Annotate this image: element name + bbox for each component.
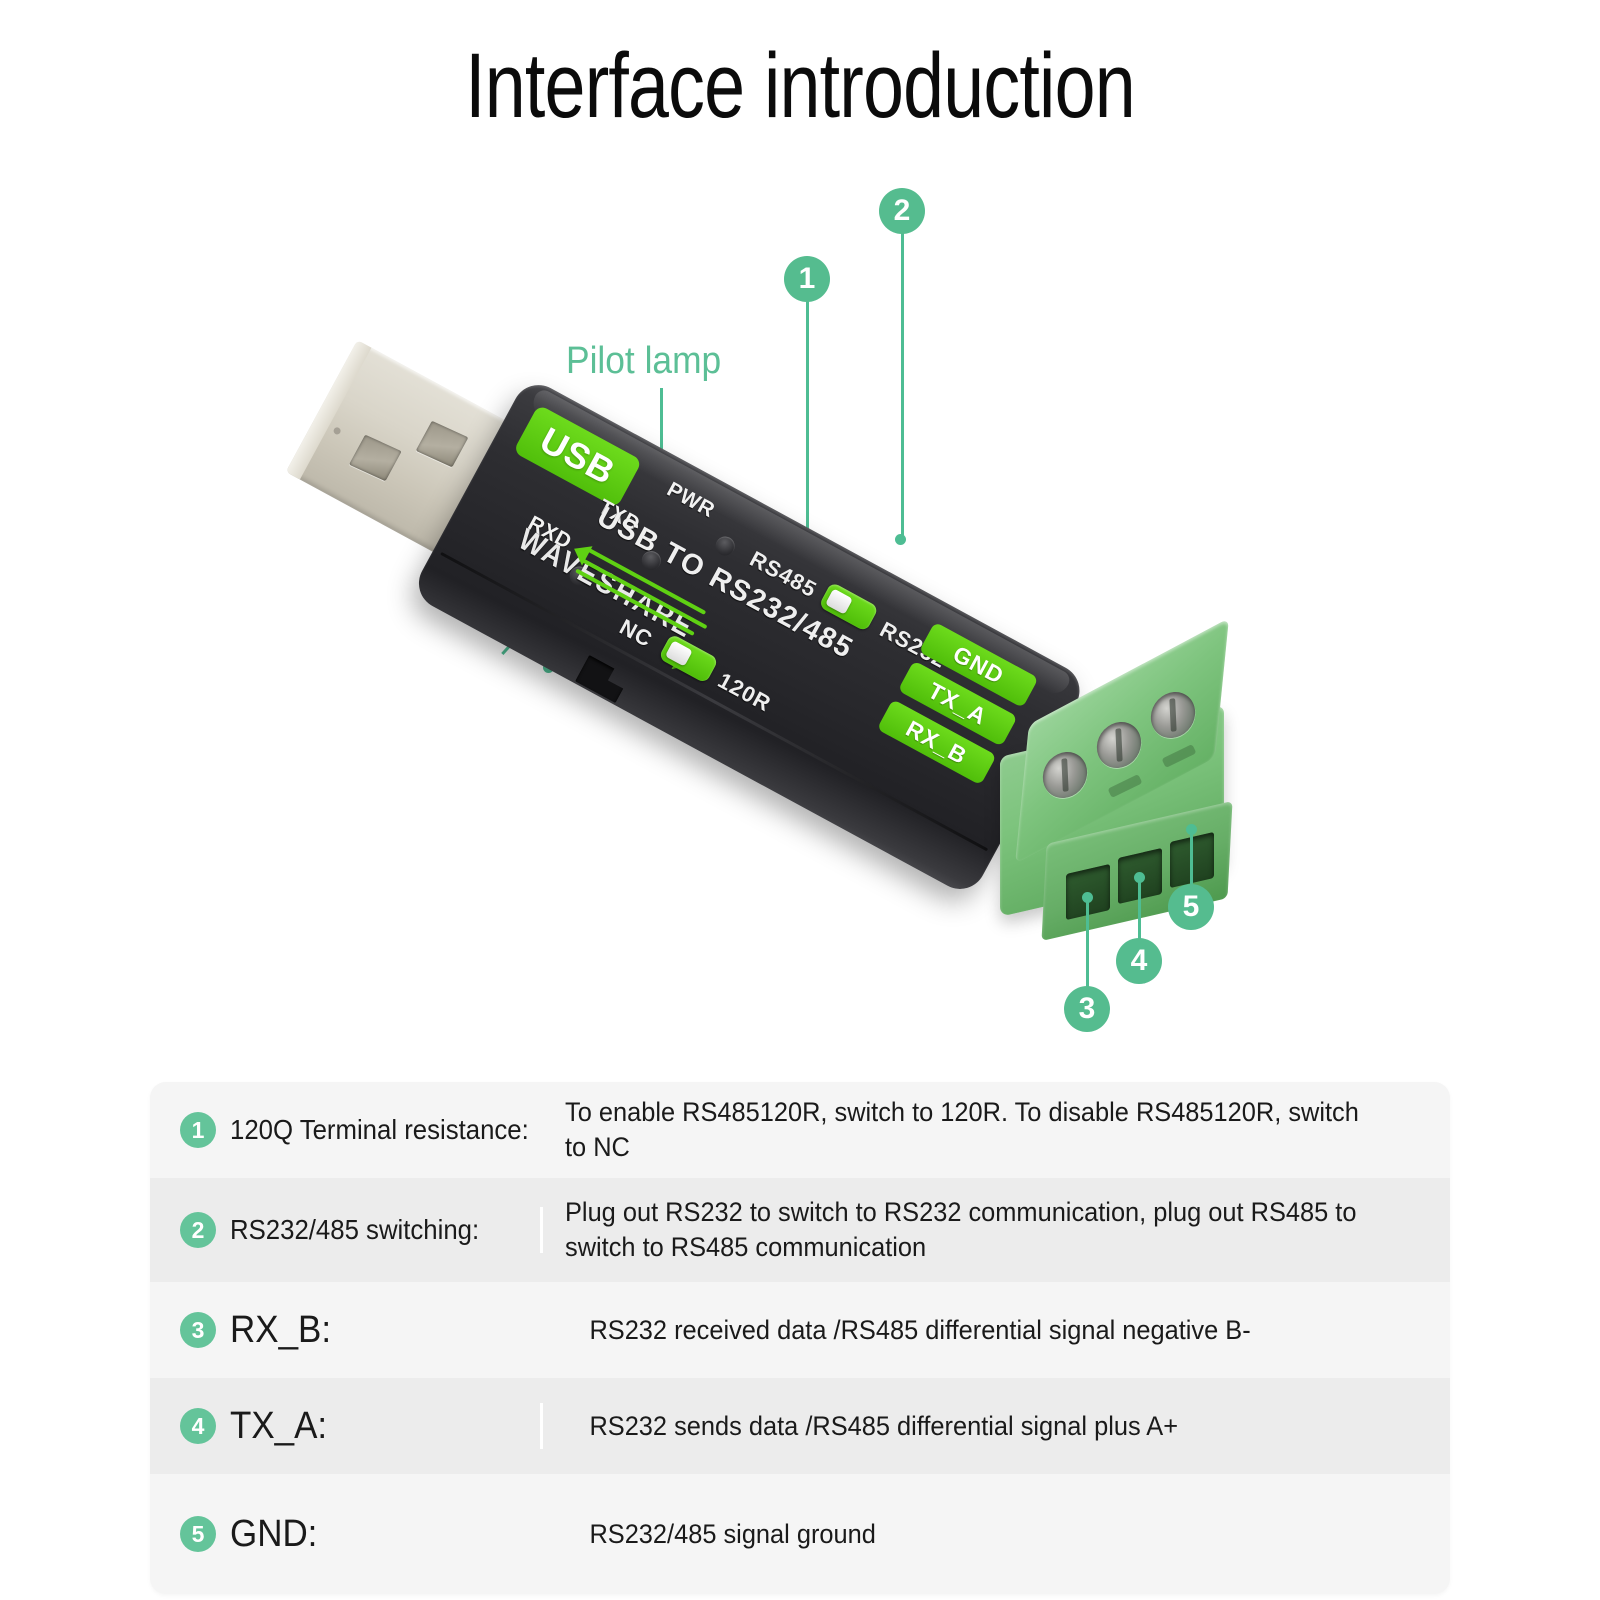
legend-row-5: 5 GND: RS232/485 signal ground bbox=[150, 1474, 1450, 1594]
callout-2-leader bbox=[901, 212, 904, 542]
legend-label-2: RS232/485 switching: bbox=[230, 1214, 515, 1246]
screw-slot bbox=[1061, 758, 1068, 792]
legend-number-2: 2 bbox=[180, 1212, 216, 1248]
legend-divider bbox=[540, 1403, 543, 1449]
callout-badge-1: 1 bbox=[784, 256, 830, 302]
usb-connector-cutout bbox=[349, 435, 402, 482]
legend-label-5: GND: bbox=[230, 1513, 515, 1556]
legend-label-3: RX_B: bbox=[230, 1309, 515, 1352]
legend-desc-3: RS232 received data /RS485 differential … bbox=[565, 1313, 1397, 1348]
callout-badge-4: 4 bbox=[1116, 938, 1162, 984]
callout-3-leader bbox=[1086, 898, 1089, 994]
product-photo: Pilot lamp 1 2 USB PWR TXD RXD bbox=[0, 150, 1600, 1060]
callout-4-leader bbox=[1138, 878, 1141, 946]
legend-number-1: 1 bbox=[180, 1112, 216, 1148]
legend-desc-4: RS232 sends data /RS485 differential sig… bbox=[565, 1409, 1397, 1444]
pilot-lamp-callout-label: Pilot lamp bbox=[566, 340, 721, 383]
legend-number-4: 4 bbox=[180, 1408, 216, 1444]
legend-number-5: 5 bbox=[180, 1516, 216, 1552]
usb-connector-pinhole bbox=[332, 426, 341, 435]
callout-5-leader bbox=[1190, 830, 1193, 892]
legend-desc-5: RS232/485 signal ground bbox=[565, 1517, 1397, 1552]
legend-label-1: 120Q Terminal resistance: bbox=[230, 1114, 515, 1146]
page-title: Interface introduction bbox=[160, 38, 1440, 135]
screw-slot bbox=[1169, 698, 1176, 732]
callout-badge-5: 5 bbox=[1168, 884, 1214, 930]
legend-row-1: 1 120Q Terminal resistance: To enable RS… bbox=[150, 1082, 1450, 1178]
terminal-block-connector bbox=[990, 675, 1258, 925]
legend-row-3: 3 RX_B: RS232 received data /RS485 diffe… bbox=[150, 1282, 1450, 1378]
screw-slot bbox=[1115, 728, 1122, 762]
callout-badge-2: 2 bbox=[879, 188, 925, 234]
legend-desc-2: Plug out RS232 to switch to RS232 commun… bbox=[565, 1195, 1397, 1264]
legend-divider bbox=[540, 1207, 543, 1253]
jumper-cap[interactable] bbox=[665, 640, 693, 666]
legend-label-4: TX_A: bbox=[230, 1405, 515, 1448]
legend-row-2: 2 RS232/485 switching: Plug out RS232 to… bbox=[150, 1178, 1450, 1282]
legend-desc-1: To enable RS485120R, switch to 120R. To … bbox=[565, 1095, 1397, 1164]
jumper-cap[interactable] bbox=[825, 588, 853, 614]
legend-row-4: 4 TX_A: RS232 sends data /RS485 differen… bbox=[150, 1378, 1450, 1474]
adapter-enclosure bbox=[410, 376, 1089, 898]
legend-number-3: 3 bbox=[180, 1312, 216, 1348]
callout-2-anchor bbox=[895, 534, 906, 545]
usb-connector-cutout bbox=[416, 421, 469, 468]
interface-legend-table: 1 120Q Terminal resistance: To enable RS… bbox=[150, 1082, 1450, 1594]
callout-badge-3: 3 bbox=[1064, 986, 1110, 1032]
